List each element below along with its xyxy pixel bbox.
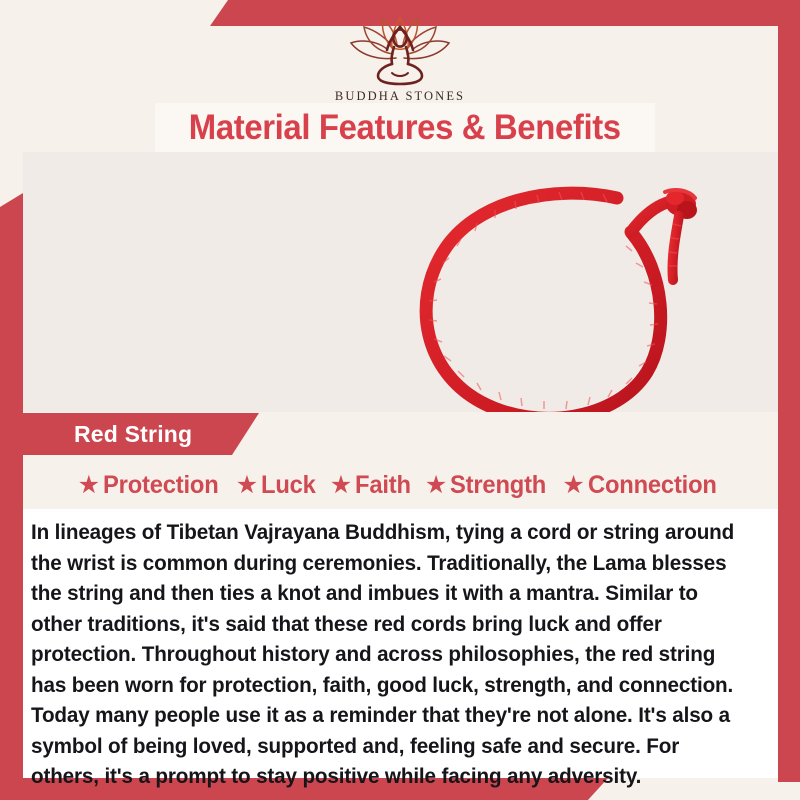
star-icon: ★ [78, 473, 100, 498]
product-photo-area [23, 152, 778, 412]
feature-item-connection: ★ Connection [558, 471, 727, 500]
feature-item-luck: ★ Luck [232, 471, 323, 500]
product-name-ribbon: Red String [23, 413, 259, 455]
product-name-label: Red String [74, 421, 192, 448]
feature-item-faith: ★ Faith [326, 471, 418, 500]
feature-list: ★ Protection ★ Luck ★ Faith ★ Strength ★… [23, 462, 778, 508]
red-string-bracelet-photo [213, 164, 573, 412]
description-panel: In lineages of Tibetan Vajrayana Buddhis… [23, 509, 778, 778]
feature-label: Luck [261, 471, 316, 500]
star-icon: ★ [330, 473, 352, 498]
feature-label: Protection [103, 471, 219, 500]
page-title: Material Features & Benefits [189, 108, 621, 148]
left-red-stripe [0, 193, 23, 793]
star-icon: ★ [562, 473, 584, 498]
feature-label: Strength [450, 471, 546, 500]
feature-label: Faith [355, 471, 411, 500]
right-red-stripe [778, 0, 800, 782]
feature-label: Connection [588, 471, 717, 500]
lotus-meditation-icon [334, 14, 466, 88]
star-icon: ★ [425, 473, 447, 498]
title-band: Material Features & Benefits [155, 103, 655, 152]
brand-wordmark: BUDDHA STONES [335, 89, 465, 104]
star-icon: ★ [236, 473, 258, 498]
feature-item-protection: ★ Protection [74, 471, 229, 500]
infographic-page: BUDDHA STONES Material Features & Benefi… [0, 0, 800, 800]
description-text: In lineages of Tibetan Vajrayana Buddhis… [31, 517, 744, 792]
feature-item-strength: ★ Strength [421, 471, 556, 500]
brand-header: BUDDHA STONES [0, 14, 800, 104]
